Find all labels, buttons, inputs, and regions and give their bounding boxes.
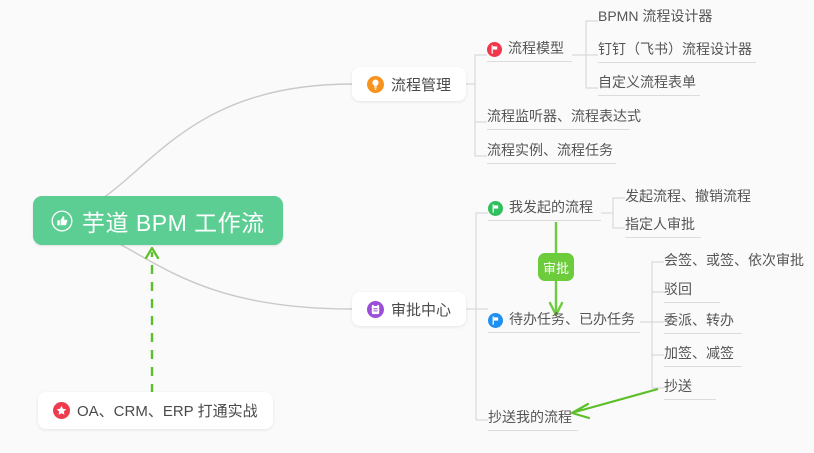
node-add-remove-sign[interactable]: 加签、减签 xyxy=(664,345,742,367)
connector-started-to-start-cancel xyxy=(601,198,625,213)
node-todo-done-tasks[interactable]: 待办任务、已办任务 xyxy=(488,311,640,333)
label-start-cancel-process: 发起流程、撤销流程 xyxy=(625,188,751,205)
label-dingtalk-feishu-designer: 钉钉（飞书）流程设计器 xyxy=(598,41,752,58)
connector-started-to-assigned xyxy=(613,213,625,228)
node-oa-crm-erp[interactable]: OA、CRM、ERP 打通实战 xyxy=(38,392,273,429)
connector-model-to-customform xyxy=(586,55,598,88)
label-carbon-copy: 抄送 xyxy=(664,378,692,395)
node-custom-process-form[interactable]: 自定义流程表单 xyxy=(598,74,700,96)
node-bpmn-designer[interactable]: BPMN 流程设计器 xyxy=(598,8,712,29)
node-start-cancel-process[interactable]: 发起流程、撤销流程 xyxy=(625,188,751,209)
label-add-remove-sign: 加签、减签 xyxy=(664,345,734,362)
connector-pm-to-instance xyxy=(475,122,487,156)
label-process-model: 流程模型 xyxy=(508,40,564,57)
label-delegate-transfer: 委派、转办 xyxy=(664,312,734,329)
connector-model-to-bpmn xyxy=(572,21,598,55)
label-custom-process-form: 自定义流程表单 xyxy=(598,74,696,91)
root-label: 芋道 BPM 工作流 xyxy=(82,204,265,238)
node-carbon-copy[interactable]: 抄送 xyxy=(664,378,716,400)
branch-label-approval-center: 审批中心 xyxy=(391,299,451,320)
approval-badge-label: 审批 xyxy=(543,258,569,277)
node-countersign-orsign-sequential[interactable]: 会签、或签、依次审批 xyxy=(664,252,804,273)
label-process-instance-task: 流程实例、流程任务 xyxy=(487,142,613,159)
mindmap-canvas: 芋道 BPM 工作流 流程管理 流程模型 BPMN 流程设计器 钉 xyxy=(0,0,814,453)
node-assigned-approver[interactable]: 指定人审批 xyxy=(625,216,701,238)
label-todo-done-tasks: 待办任务、已办任务 xyxy=(509,311,635,328)
root-node[interactable]: 芋道 BPM 工作流 xyxy=(33,196,283,245)
connector-todo-to-addsign xyxy=(652,322,664,355)
label-process-listener-expression: 流程监听器、流程表达式 xyxy=(487,108,641,125)
node-cc-to-me-process[interactable]: 抄送我的流程 xyxy=(488,409,578,431)
node-my-started-process[interactable]: 我发起的流程 xyxy=(488,199,601,221)
connector-ac-to-my-started xyxy=(463,213,488,309)
node-reject[interactable]: 驳回 xyxy=(664,281,720,303)
star-icon xyxy=(53,402,70,419)
connector-todo-to-countersign xyxy=(640,262,664,322)
node-delegate-transfer[interactable]: 委派、转办 xyxy=(664,312,742,334)
approval-badge[interactable]: 审批 xyxy=(538,253,574,281)
node-process-listener-expression[interactable]: 流程监听器、流程表达式 xyxy=(487,108,630,130)
lightbulb-icon xyxy=(367,76,384,93)
label-assigned-approver: 指定人审批 xyxy=(625,216,695,233)
cc-link-arrow-shaft xyxy=(575,389,658,412)
label-oa-crm-erp: OA、CRM、ERP 打通实战 xyxy=(77,400,258,421)
flag-icon xyxy=(488,313,503,328)
branch-label-process-management: 流程管理 xyxy=(391,74,451,95)
flag-icon xyxy=(488,201,503,216)
label-bpmn-designer: BPMN 流程设计器 xyxy=(598,8,712,25)
label-reject: 驳回 xyxy=(664,281,692,298)
clipboard-icon xyxy=(367,301,384,318)
connector-todo-to-reject xyxy=(652,292,664,322)
label-my-started-process: 我发起的流程 xyxy=(509,199,593,216)
flag-icon xyxy=(487,42,502,57)
connector-todo-to-cc xyxy=(652,322,664,388)
connector-ac-to-cc xyxy=(476,309,488,420)
node-process-model[interactable]: 流程模型 xyxy=(487,40,572,62)
node-process-instance-task[interactable]: 流程实例、流程任务 xyxy=(487,142,616,164)
connector-pm-to-listener xyxy=(475,84,487,122)
label-cc-to-me-process: 抄送我的流程 xyxy=(488,409,572,426)
node-dingtalk-feishu-designer[interactable]: 钉钉（飞书）流程设计器 xyxy=(598,41,756,63)
connector-pm-to-process-model xyxy=(463,55,487,84)
dashed-up-arrow-head xyxy=(146,248,158,258)
thumbs-up-icon xyxy=(51,210,73,232)
branch-node-process-management[interactable]: 流程管理 xyxy=(352,67,466,101)
branch-node-approval-center[interactable]: 审批中心 xyxy=(352,292,466,326)
label-countersign-orsign-sequential: 会签、或签、依次审批 xyxy=(664,252,804,269)
